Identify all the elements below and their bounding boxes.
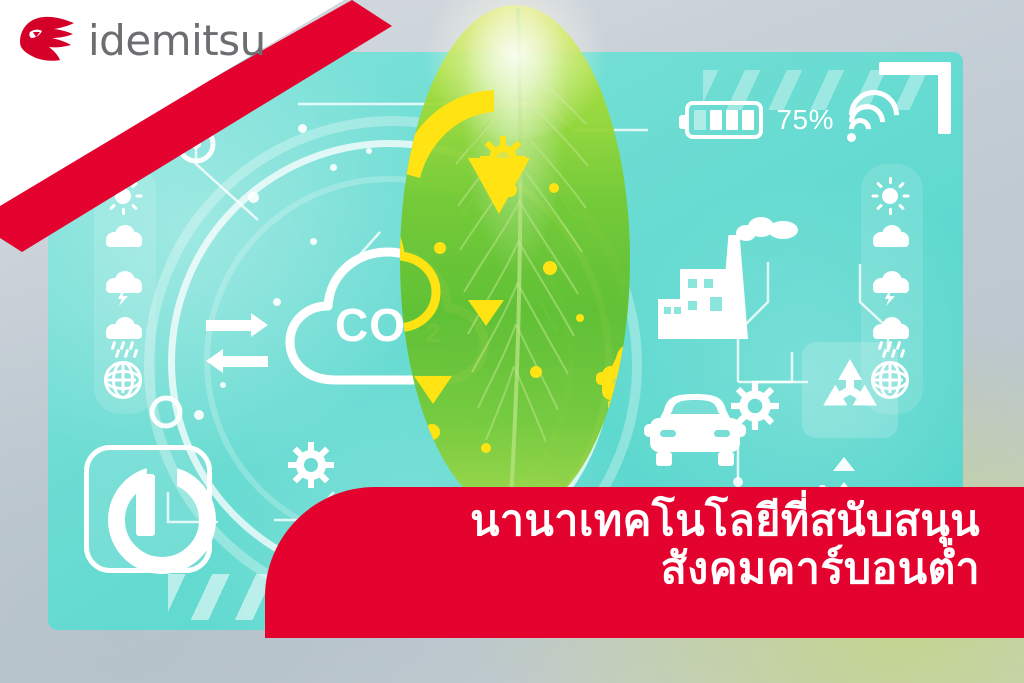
status-indicators: 75% <box>685 98 903 142</box>
recycle-icon <box>802 342 898 438</box>
cloud-icon <box>104 223 146 263</box>
leaf-graphic <box>390 0 640 520</box>
exchange-arrows-icon <box>206 314 278 388</box>
thunderstorm-icon <box>104 269 146 309</box>
logo-wordmark: idemitsu <box>88 16 266 65</box>
headline-line-2: สังคมคาร์บอนต่ำ <box>320 545 980 593</box>
gear-icon <box>731 382 779 435</box>
factory-icon <box>658 227 778 387</box>
headline-text: นานาเทคโนโลยีที่สนับสนุน สังคมคาร์บอนต่ำ <box>320 497 980 593</box>
wifi-icon <box>847 98 903 142</box>
corner-bracket-bottom-left <box>48 574 104 630</box>
smoke-icon <box>736 215 798 243</box>
decorative-dot <box>330 164 337 171</box>
brand-logo: idemitsu <box>16 12 266 68</box>
decorative-dot <box>366 148 372 154</box>
thunderstorm-icon <box>871 269 913 309</box>
headline-line-1: นานาเทคโนโลยีที่สนับสนุน <box>320 497 980 545</box>
decorative-dot <box>194 410 204 420</box>
globe-icon <box>104 361 146 401</box>
decorative-dot <box>298 124 307 133</box>
cloud-icon <box>871 223 913 263</box>
gear-icon <box>288 442 334 493</box>
headline-banner: นานาเทคโนโลยีที่สนับสนุน สังคมคาร์บอนต่ำ <box>265 487 1024 638</box>
power-button-icon <box>84 445 212 573</box>
rain-icon <box>104 315 146 355</box>
sun-icon <box>871 177 913 217</box>
poster-canvas: 75% CO 2 <box>0 0 1024 683</box>
decorative-dot <box>248 192 259 203</box>
battery-percent-label: 75% <box>776 104 834 136</box>
idemitsu-apollo-bird-mark <box>16 12 78 68</box>
battery-icon <box>685 101 763 139</box>
